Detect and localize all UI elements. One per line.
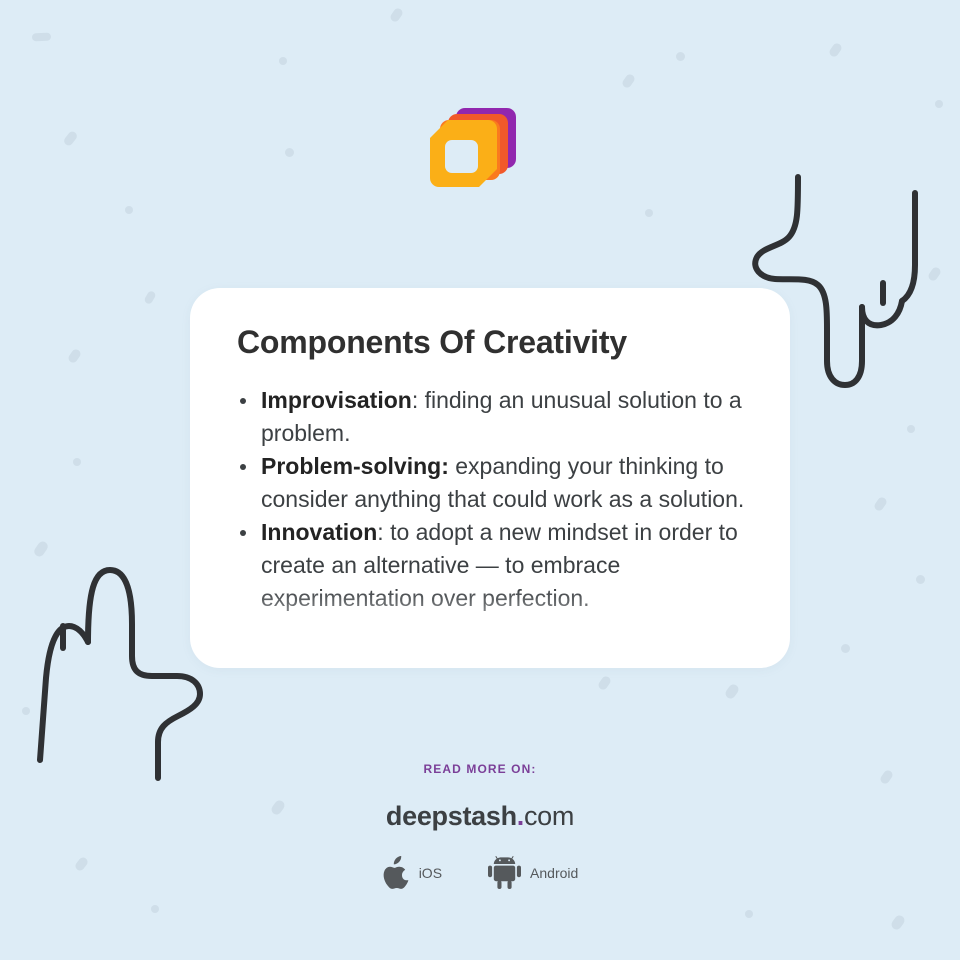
confetti-speck xyxy=(916,575,925,584)
confetti-speck xyxy=(67,348,82,365)
idea-card: Components Of Creativity Improvisation: … xyxy=(190,288,790,668)
deepstash-logo-icon[interactable] xyxy=(428,104,520,196)
confetti-speck xyxy=(676,52,685,61)
confetti-speck xyxy=(151,905,159,913)
confetti-speck xyxy=(841,644,850,653)
confetti-speck xyxy=(907,425,915,433)
confetti-speck xyxy=(285,148,294,157)
apple-icon xyxy=(382,856,410,889)
ios-store-label: iOS xyxy=(419,865,442,881)
android-store-badge[interactable]: Android xyxy=(488,856,578,889)
confetti-speck xyxy=(389,7,404,24)
brand-name: deepstash xyxy=(386,801,517,831)
idea-bullet-list: Improvisation: finding an unusual soluti… xyxy=(237,384,750,615)
list-item: Innovation: to adopt a new mindset in or… xyxy=(261,516,750,615)
confetti-speck xyxy=(828,42,843,59)
confetti-speck xyxy=(279,57,287,65)
list-item: Improvisation: finding an unusual soluti… xyxy=(261,384,750,450)
confetti-speck xyxy=(724,682,741,700)
deepstash-idea-card-poster: Components Of Creativity Improvisation: … xyxy=(0,0,960,960)
confetti-speck xyxy=(745,910,753,918)
idea-card-content: Components Of Creativity Improvisation: … xyxy=(190,288,790,615)
confetti-speck xyxy=(62,130,78,147)
confetti-speck xyxy=(621,73,636,90)
confetti-speck xyxy=(73,458,81,466)
android-store-label: Android xyxy=(530,865,578,881)
confetti-speck xyxy=(873,496,888,513)
list-item: Problem-solving: expanding your thinking… xyxy=(261,450,750,516)
app-store-badges: iOS Android xyxy=(0,856,960,889)
brand-dot: . xyxy=(517,801,524,831)
idea-term: Improvisation xyxy=(261,387,412,413)
brand-tld: com xyxy=(524,801,574,831)
confetti-speck xyxy=(890,913,907,931)
read-more-label: READ MORE ON: xyxy=(0,762,960,776)
pointing-up-hand-icon xyxy=(18,552,218,792)
confetti-speck xyxy=(143,290,156,305)
confetti-speck xyxy=(125,206,133,214)
confetti-speck xyxy=(597,675,612,692)
footer: READ MORE ON: deepstash.com iOS xyxy=(0,762,960,889)
page-title: Components Of Creativity xyxy=(237,324,750,362)
ios-store-badge[interactable]: iOS xyxy=(382,856,442,889)
confetti-speck xyxy=(645,209,653,217)
confetti-speck xyxy=(32,33,51,42)
idea-term: Innovation xyxy=(261,519,377,545)
brand-url[interactable]: deepstash.com xyxy=(0,801,960,832)
android-icon xyxy=(488,856,521,889)
idea-term: Problem-solving: xyxy=(261,453,449,479)
confetti-speck xyxy=(935,100,943,108)
